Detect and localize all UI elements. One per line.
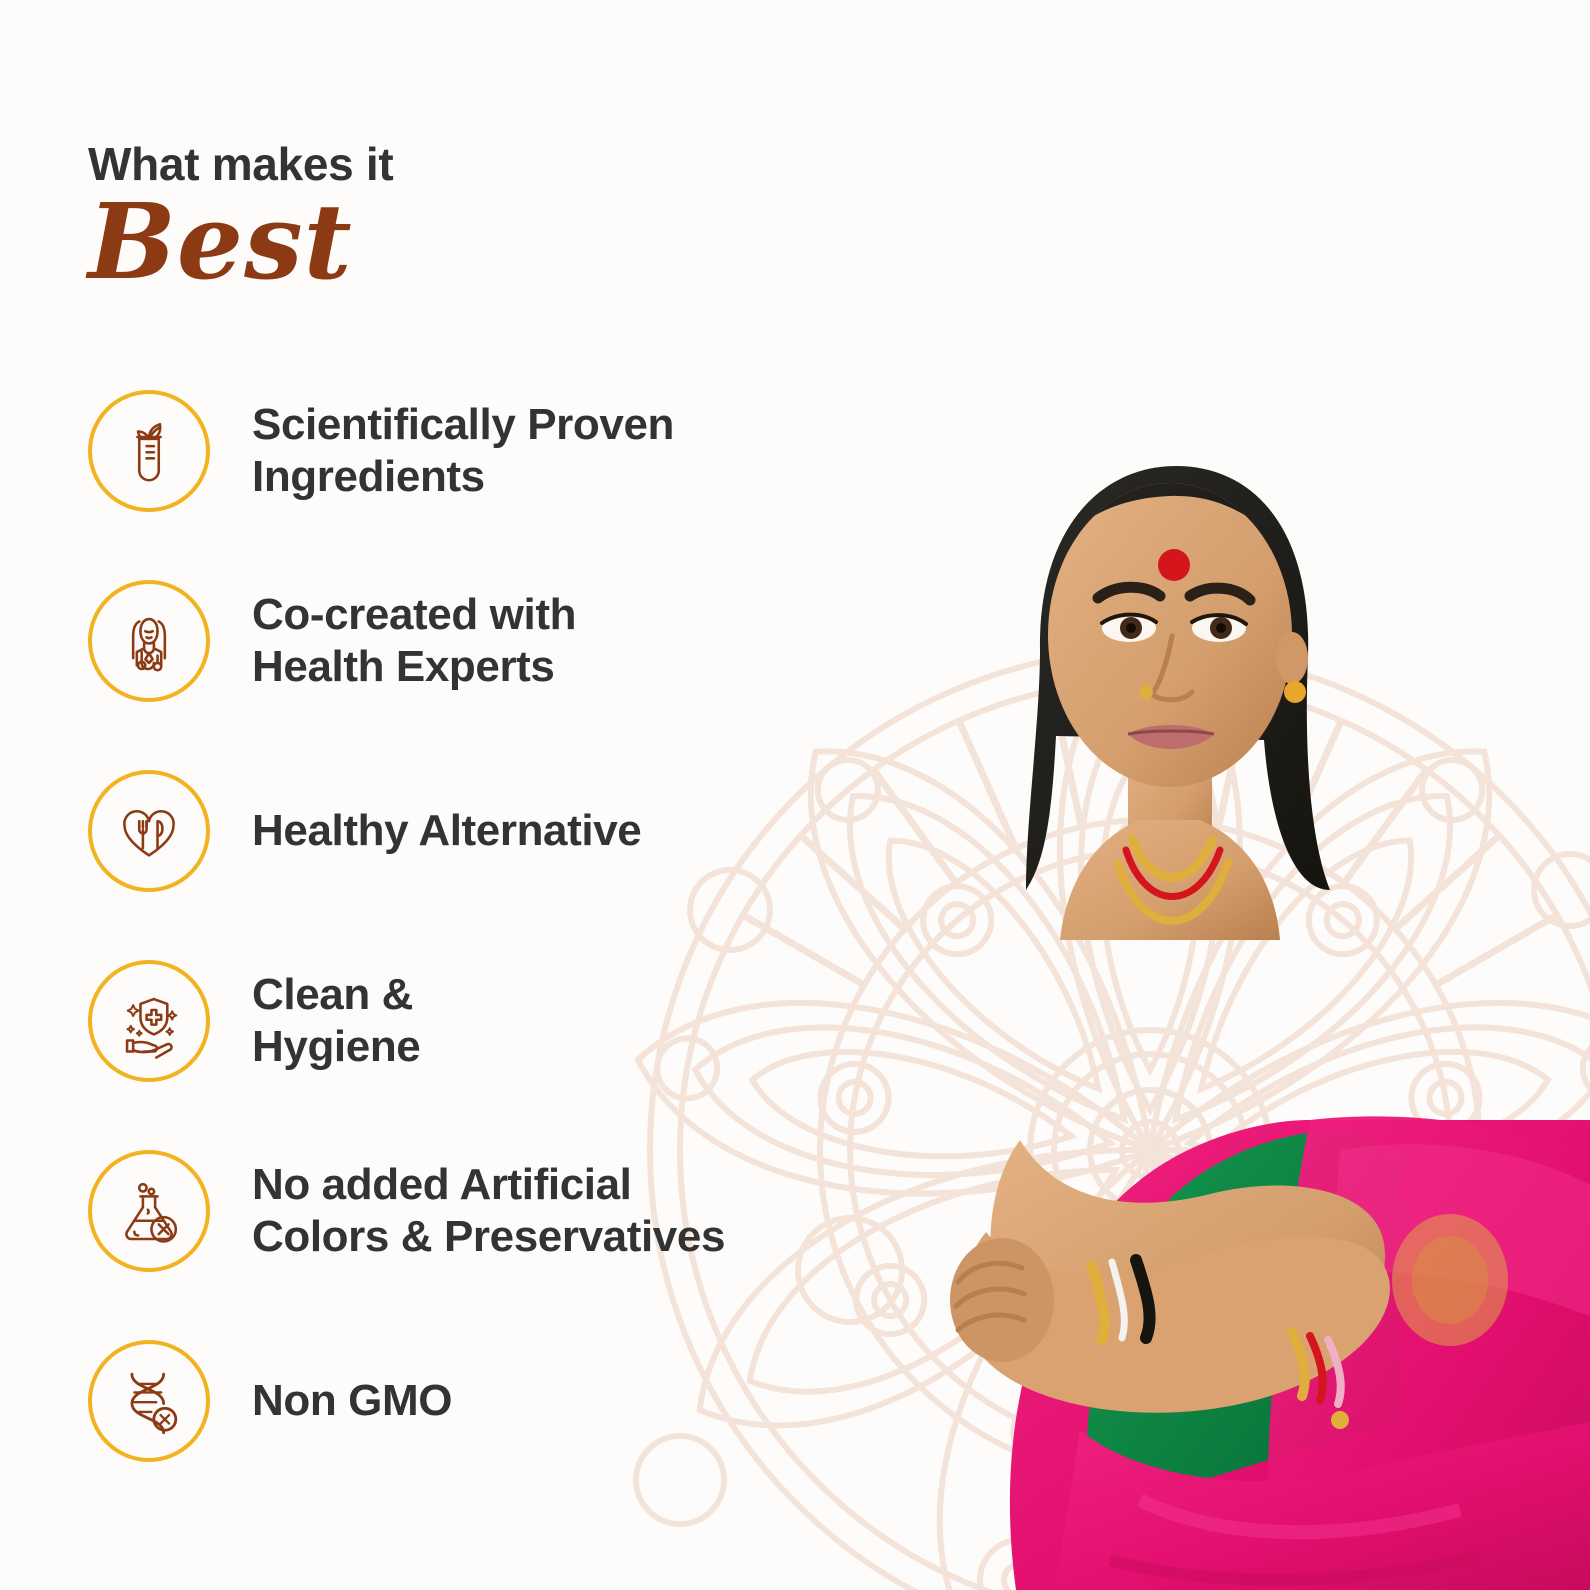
saree-pallu xyxy=(1267,1116,1590,1590)
face xyxy=(1048,483,1292,787)
feature-label: Co-created with Health Experts xyxy=(252,589,576,693)
hand-left xyxy=(950,1238,1054,1362)
dna-no-gmo-icon xyxy=(88,1340,210,1462)
feature-row: Co-created with Health Experts xyxy=(88,578,878,704)
chest xyxy=(1060,820,1280,940)
neck xyxy=(1128,740,1212,853)
feature-row: Healthy Alternative xyxy=(88,768,878,894)
feature-label: Scientifically Proven Ingredients xyxy=(252,399,674,503)
feature-label: Clean & Hygiene xyxy=(252,969,420,1073)
gold-bangle xyxy=(1092,1266,1104,1340)
feature-row: Non GMO xyxy=(88,1338,878,1464)
saree-body xyxy=(1010,1120,1590,1590)
page-title: What makes it Best xyxy=(88,140,393,294)
feature-row: Clean & Hygiene xyxy=(88,958,878,1084)
promo-canvas: What makes it Best Scientifically Proven… xyxy=(0,0,1590,1590)
feature-row: Scientifically Proven Ingredients xyxy=(88,388,878,514)
test-tube-leaf-icon xyxy=(88,390,210,512)
feature-label: Non GMO xyxy=(252,1375,452,1427)
black-thread xyxy=(1136,1260,1150,1338)
necklace xyxy=(1132,838,1212,877)
earring xyxy=(1284,681,1306,703)
hair xyxy=(1026,466,1330,890)
blouse xyxy=(1085,1131,1400,1590)
feature-list: Scientifically Proven Ingredients xyxy=(88,388,878,1464)
feature-label: No added Artificial Colors & Preservativ… xyxy=(252,1159,725,1263)
bindi xyxy=(1158,549,1190,581)
arm-lower xyxy=(962,1232,1390,1413)
ring xyxy=(1331,1411,1349,1429)
saree-lower xyxy=(1055,1420,1590,1590)
flask-no-chemicals-icon xyxy=(88,1150,210,1272)
model-portrait xyxy=(840,420,1590,1590)
arm-upper xyxy=(990,1140,1385,1383)
feature-label: Healthy Alternative xyxy=(252,805,641,857)
female-doctor-stethoscope-icon xyxy=(88,580,210,702)
feature-row: No added Artificial Colors & Preservativ… xyxy=(88,1148,878,1274)
heading-line-2: Best xyxy=(88,190,393,294)
heart-fork-knife-icon xyxy=(88,770,210,892)
hand-shield-cross-sparkle-icon xyxy=(88,960,210,1082)
